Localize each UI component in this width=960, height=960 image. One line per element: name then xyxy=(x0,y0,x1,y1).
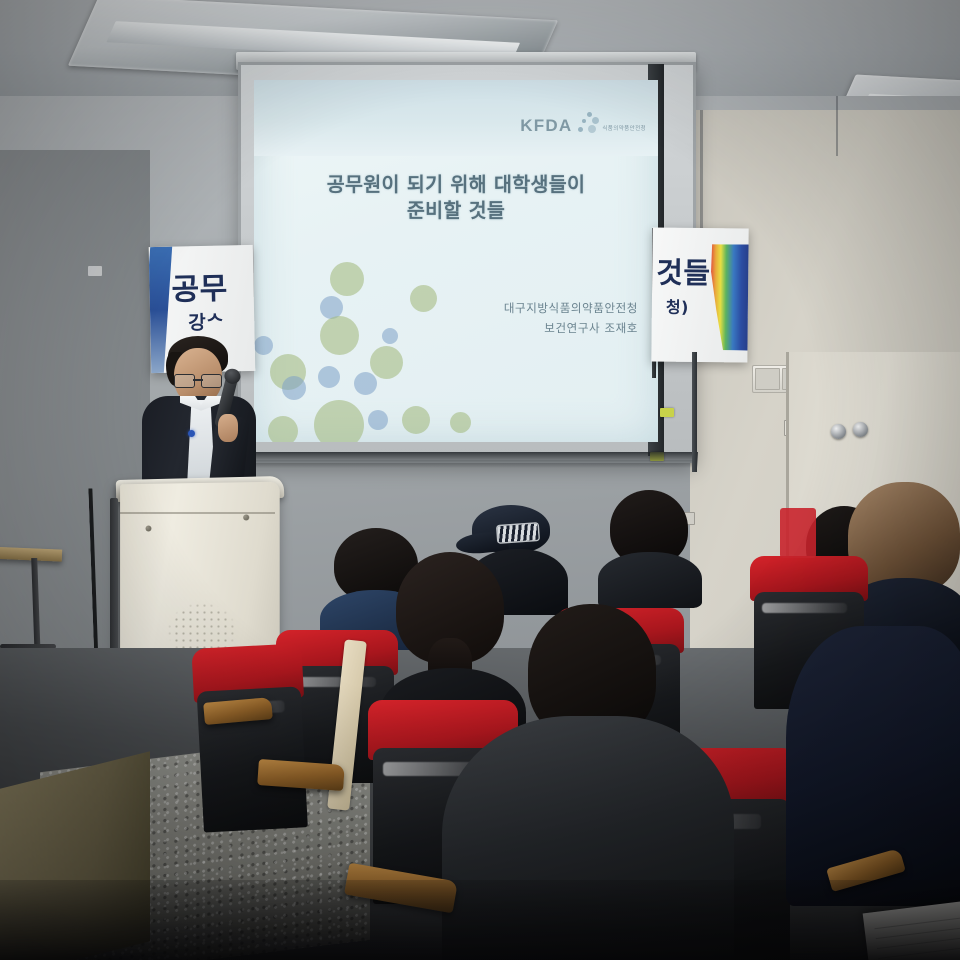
slide-bubble-green xyxy=(450,412,471,433)
banner-right-line-2: 청) xyxy=(666,294,689,318)
kfda-logo-wordmark: KFDA xyxy=(520,117,572,134)
slide-bubble-blue xyxy=(282,376,306,400)
jacket-red-accent xyxy=(780,508,816,558)
door-knob-outer[interactable] xyxy=(853,422,868,437)
slide-author-org: 대구지방식품의약품안전청 xyxy=(504,298,638,318)
projected-slide: KFDA 식품의약품안전청 공무원이 되기 위해 대학생들이 준비할 것들 대구… xyxy=(254,80,658,442)
podium-screw-right xyxy=(243,514,249,520)
banner-right-pole-lower xyxy=(692,352,697,472)
slide-title: 공무원이 되기 위해 대학생들이 준비할 것들 xyxy=(254,172,658,223)
kfda-logo-subtext: 식품의약품안전청 xyxy=(602,124,646,134)
baseball-cap-icon xyxy=(472,505,550,553)
slide-title-line-1: 공무원이 되기 위해 대학생들이 xyxy=(254,172,658,198)
audience-person-navy-jacket xyxy=(786,596,960,896)
slide-bubble-green xyxy=(268,416,298,442)
cap-logo-patch xyxy=(497,524,538,543)
kfda-molecule-icon xyxy=(576,112,598,134)
slide-bubble-blue xyxy=(354,372,377,395)
door-knob-inner[interactable] xyxy=(831,424,846,439)
banner-right: 것들 청) xyxy=(651,228,748,363)
glasses-icon xyxy=(174,374,222,386)
slide-bubble-green xyxy=(330,262,364,296)
slide-bubble-blue xyxy=(368,410,388,430)
slide-author-block: 대구지방식품의약품안전청 보건연구사 조재호 xyxy=(504,298,638,338)
foreground-shadow xyxy=(0,880,960,960)
slide-bubble-green xyxy=(370,346,403,379)
audience-person-back-right xyxy=(610,490,688,576)
wall-scuff xyxy=(88,266,102,276)
banner-right-rainbow-graphic xyxy=(709,244,748,350)
slide-bubble-green xyxy=(402,406,430,434)
slide-bubble-blue xyxy=(318,366,340,388)
banner-right-line-1: 것들 xyxy=(656,250,711,293)
lecture-hall-photo: KFDA 식품의약품안전청 공무원이 되기 위해 대학생들이 준비할 것들 대구… xyxy=(0,0,960,960)
speaker-name-badge xyxy=(188,430,195,437)
slide-bubble-green xyxy=(314,400,364,442)
slide-author-name: 보건연구사 조재호 xyxy=(504,318,638,338)
slide-title-line-2: 준비할 것들 xyxy=(254,198,658,224)
person-shoulders xyxy=(598,552,702,608)
slide-bubble-blue xyxy=(382,328,398,344)
screen-clip-mid xyxy=(660,408,674,417)
screen-bottom-shadow xyxy=(238,452,698,468)
speaker-hand xyxy=(218,414,238,442)
wall-seam-upper xyxy=(836,96,838,156)
podium-panel-seam xyxy=(120,512,275,514)
auditorium-seat xyxy=(191,643,310,829)
podium-screw-left xyxy=(146,526,152,532)
slide-bubble-green xyxy=(410,285,437,312)
kfda-logo: KFDA 식품의약품안전청 xyxy=(520,112,646,134)
banner-left-line-1: 공무 xyxy=(171,263,228,308)
speaker-presenter xyxy=(140,330,258,500)
slide-bubble-green xyxy=(320,316,359,355)
